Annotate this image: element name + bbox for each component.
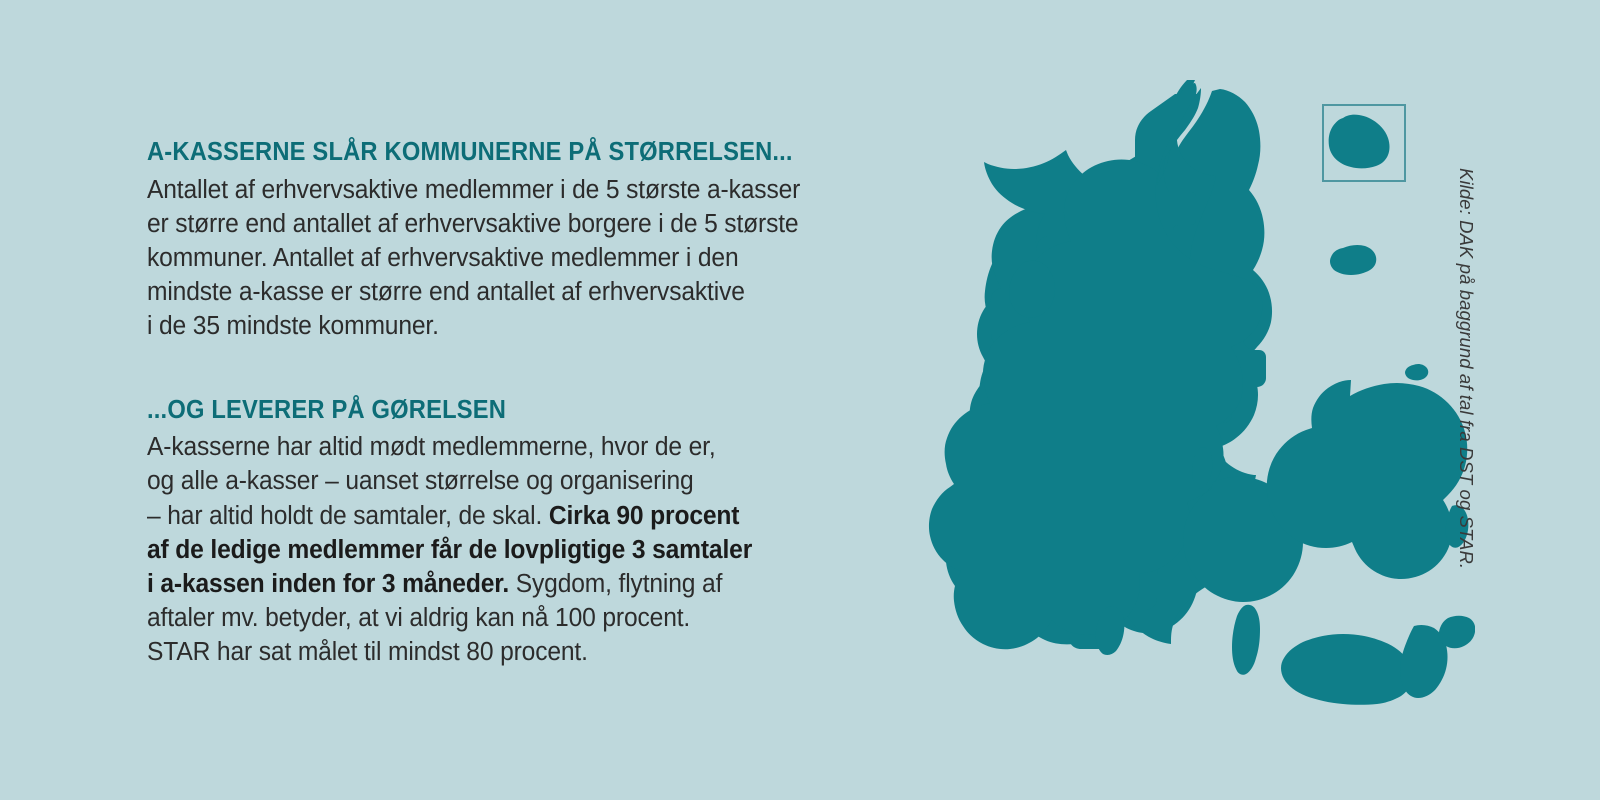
anholt-island [1405,364,1428,380]
paragraph-line-plain-part: – har altid holdt de samtaler, de skal. [147,502,549,530]
bornholm-inset-group [1323,105,1405,181]
paragraph-block-one: Antallet af erhvervsaktive medlemmer i d… [147,173,866,344]
lolland-island [1281,634,1412,705]
paragraph-block-two: A-kasserne har altid mødt medlemmerne, h… [147,430,866,669]
infographic-root: A-KASSERNE SLÅR KOMMUNERNE PÅ STØRRELSEN… [0,0,1600,800]
langeland-island [1232,605,1260,675]
paragraph-line: mindste a-kasse er større end antallet a… [147,278,745,306]
paragraph-line-plain-part: Sygdom, flytning af [509,570,722,598]
laeso-island [1330,245,1376,275]
paragraph-line-bold: af de ledige medlemmer får de lovpligtig… [147,536,752,564]
paragraph-line: i de 35 mindste kommuner. [147,312,439,340]
moen-island [1439,616,1475,649]
text-column: A-KASSERNE SLÅR KOMMUNERNE PÅ STØRRELSEN… [147,138,892,670]
paragraph-line-mixed: i a-kassen inden for 3 måneder. Sygdom, … [147,570,722,598]
paragraph-line: kommuner. Antallet af erhvervsaktive med… [147,244,739,272]
text-block-two: ...OG LEVERER PÅ GØRELSEN A-kasserne har… [147,396,892,670]
paragraph-line: Antallet af erhvervsaktive medlemmer i d… [147,176,800,204]
denmark-map-container [895,78,1475,708]
paragraph-line: A-kasserne har altid mødt medlemmerne, h… [147,433,716,461]
paragraph-line-bold-part: Cirka 90 procent [549,502,740,530]
bornholm-island [1329,115,1390,169]
paragraph-line: aftaler mv. betyder, at vi aldrig kan nå… [147,604,690,632]
heading-og-leverer-paa-goerelsen: ...OG LEVERER PÅ GØRELSEN [147,396,840,425]
denmark-map-svg [895,78,1475,708]
paragraph-line-text: og alle a-kasser – uanset størrelse og o… [147,467,694,495]
paragraph-line: STAR har sat målet til mindst 80 procent… [147,638,588,666]
heading-a-kasserne-slaar-kommunerne: A-KASSERNE SLÅR KOMMUNERNE PÅ STØRRELSEN… [147,138,840,167]
source-note: Kilde: DAK på baggrund af tal fra DST og… [1451,168,1481,608]
paragraph-line-mixed: – har altid holdt de samtaler, de skal. … [147,502,739,530]
paragraph-line-bold-part: i a-kassen inden for 3 måneder. [147,570,509,598]
text-block-one: A-KASSERNE SLÅR KOMMUNERNE PÅ STØRRELSEN… [147,138,892,344]
paragraph-line: er større end antallet af erhvervsaktive… [147,210,798,238]
paragraph-line: og alle a-kasser – uanset størrelse og o… [147,467,694,495]
